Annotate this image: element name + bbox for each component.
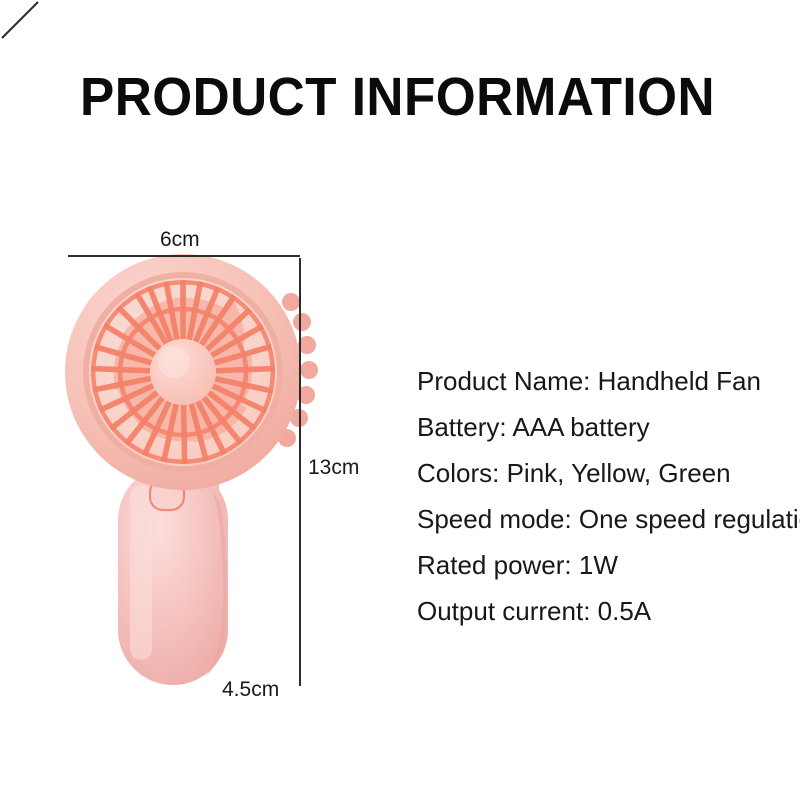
height-dimension-line: [299, 258, 301, 686]
spec-output-current: Output current: 0.5A: [417, 588, 789, 634]
width-dimension-line: [68, 255, 300, 257]
spec-rated-power: Rated power: 1W: [417, 542, 789, 588]
depth-dimension-line: [0, 0, 40, 40]
fan-head: [65, 254, 318, 490]
spec-speed-mode: Speed mode: One speed regulation: [417, 496, 789, 542]
spec-colors: Colors: Pink, Yellow, Green: [417, 450, 789, 496]
spec-battery: Battery: AAA battery: [417, 404, 789, 450]
depth-dimension-label: 4.5cm: [222, 678, 279, 702]
spec-product-name: Product Name: Handheld Fan: [417, 358, 789, 404]
width-dimension-label: 6cm: [160, 228, 200, 252]
page-title: PRODUCT INFORMATION: [80, 66, 715, 128]
height-dimension-label: 13cm: [308, 456, 359, 480]
specification-list: Product Name: Handheld Fan Battery: AAA …: [417, 358, 789, 634]
product-information-page: PRODUCT INFORMATION: [0, 0, 800, 800]
